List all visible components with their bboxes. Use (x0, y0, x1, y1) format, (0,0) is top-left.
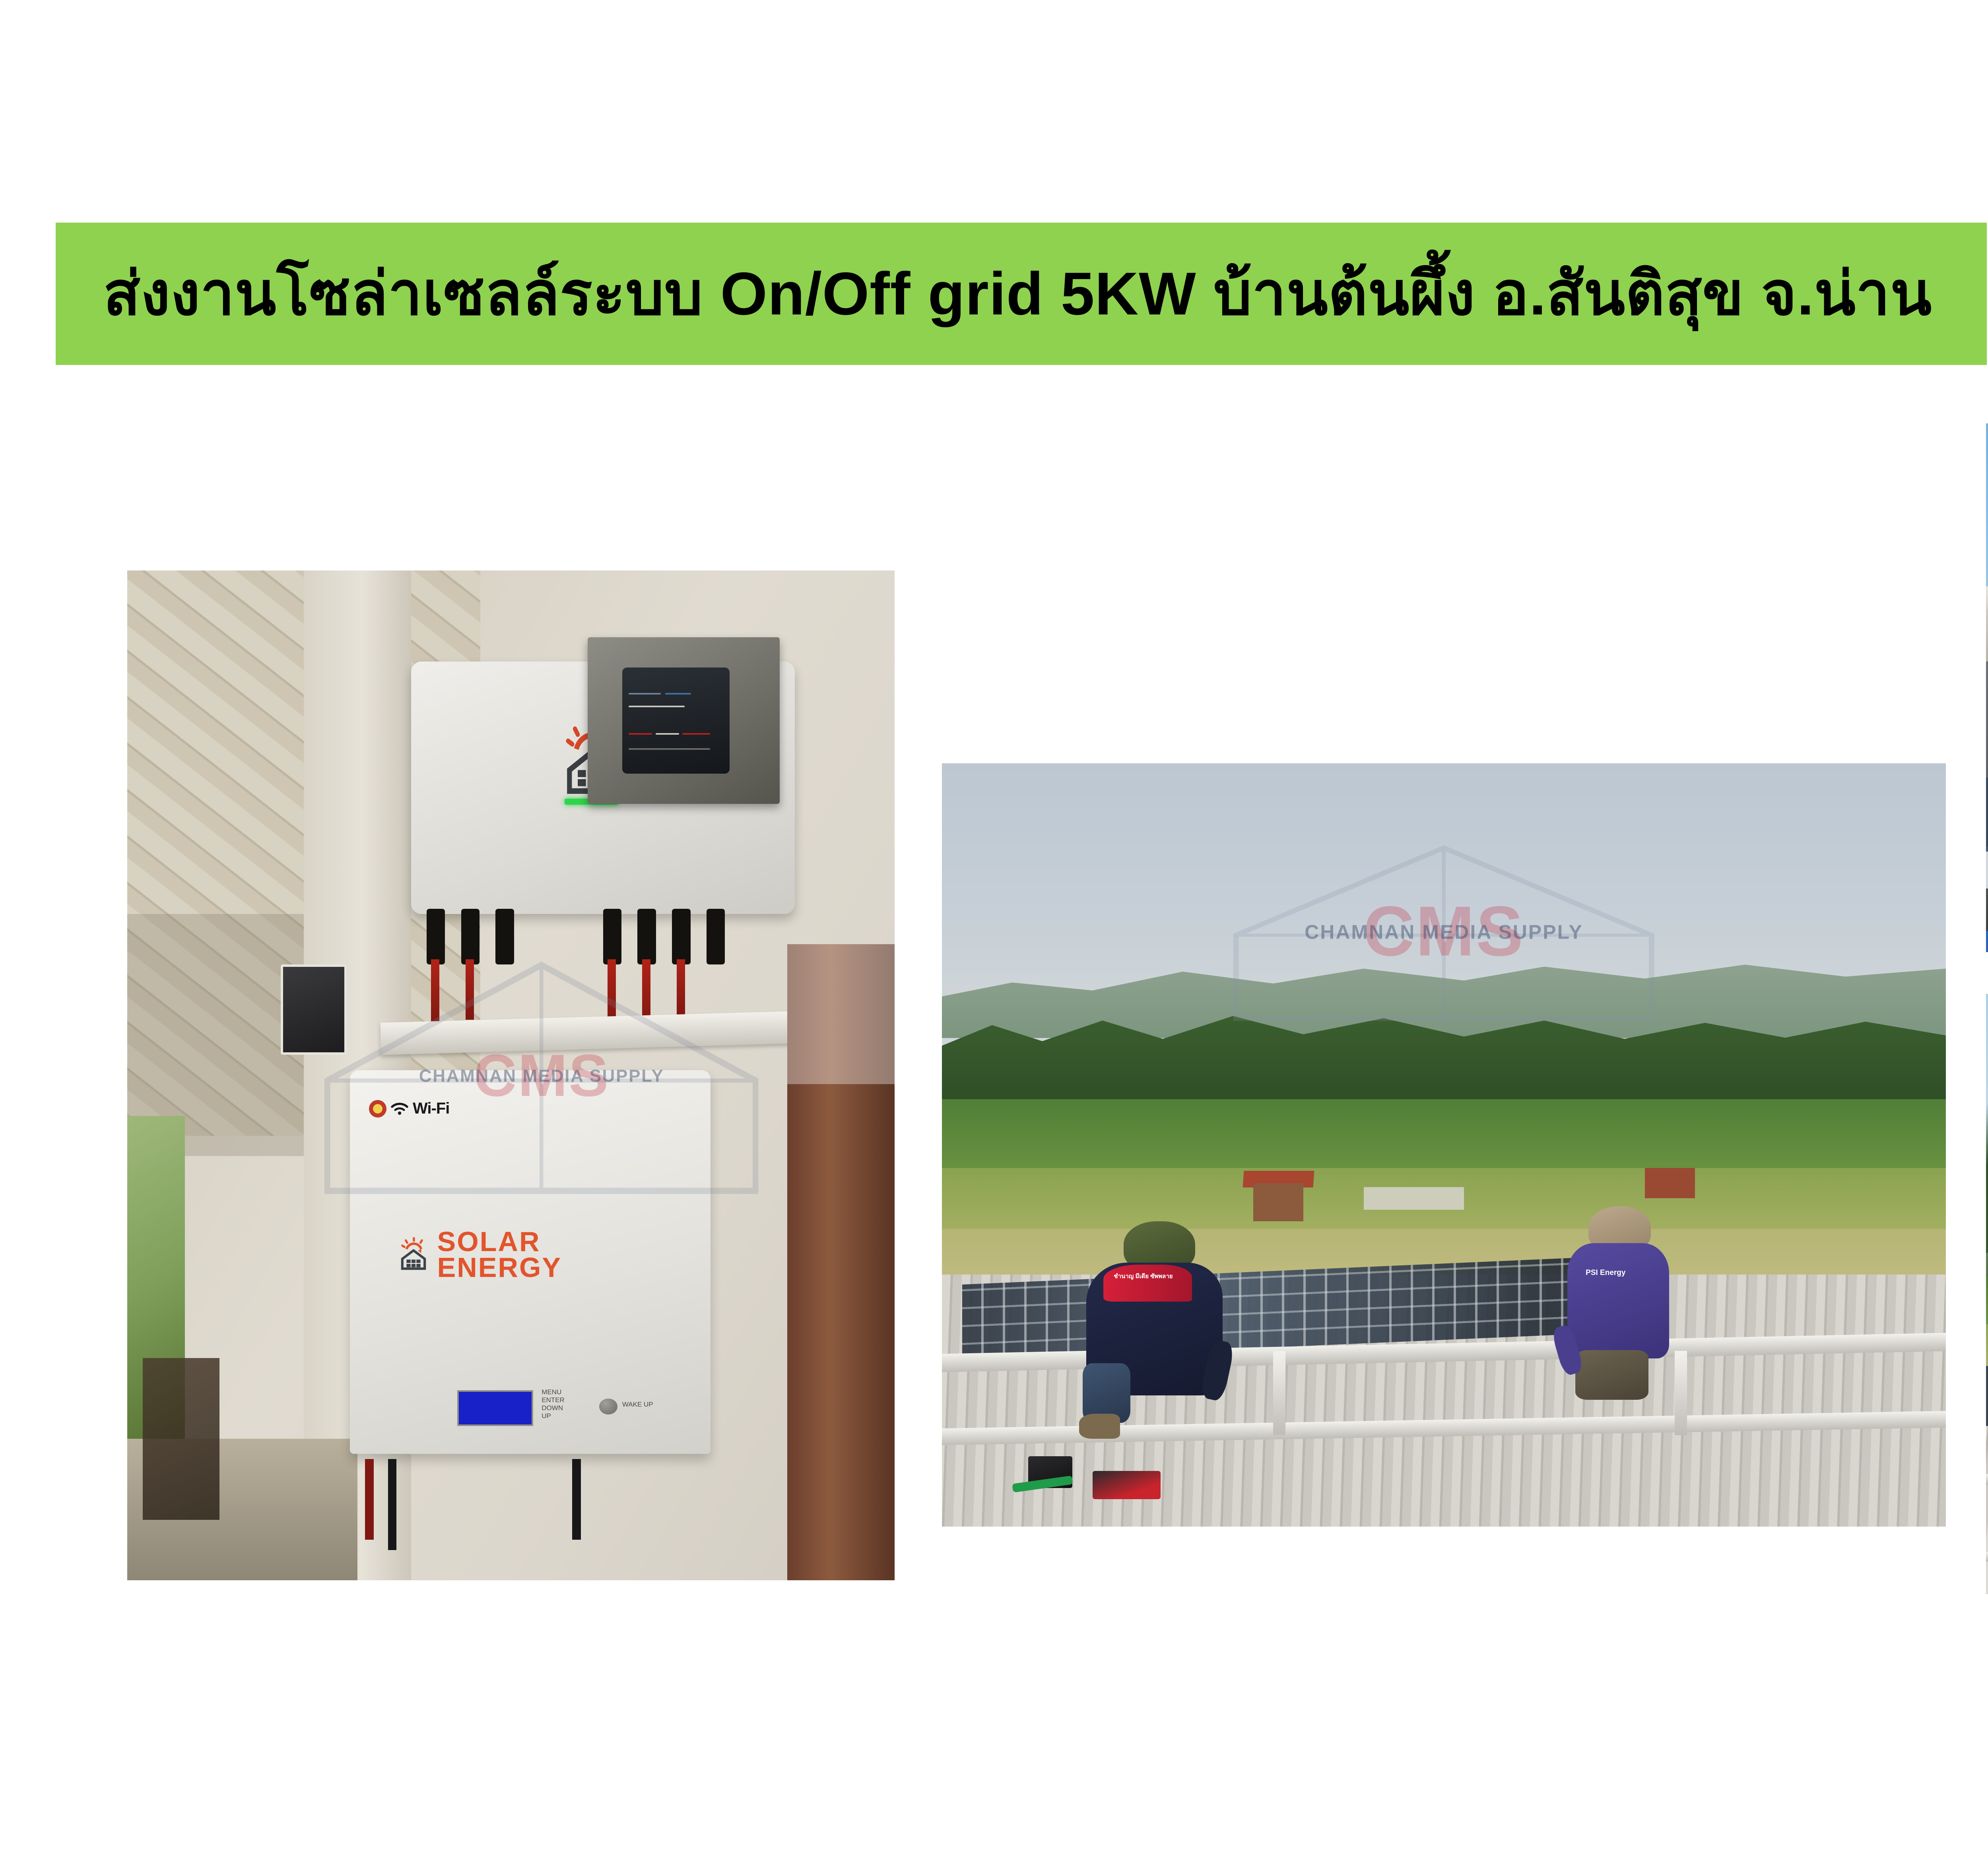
crop-field (942, 1099, 1946, 1176)
breaker (665, 693, 691, 695)
mounting-rail (1986, 1474, 1988, 1485)
breaker (629, 706, 684, 707)
field-hut (1253, 1183, 1303, 1221)
photo-panel-hoist: CMS CHAMNAN MEDIA SUPPLY (1986, 423, 1988, 952)
brand-line-2: ENERGY (437, 1255, 562, 1280)
wifi-label: Wi-Fi (413, 1100, 449, 1118)
breaker (656, 733, 679, 735)
breaker (629, 693, 661, 695)
control-buttons[interactable]: MENU ENTER DOWN UP (542, 1388, 588, 1429)
crop-field (1986, 1276, 1988, 1330)
farm-house (1645, 1168, 1695, 1199)
soffit (1986, 609, 1988, 662)
lcd-display (457, 1390, 533, 1426)
breaker (629, 748, 710, 750)
fire-seal-icon (369, 1100, 386, 1118)
blue-tarp (1986, 931, 1988, 952)
rail-post (1273, 1351, 1285, 1435)
deck-edge (1986, 889, 1988, 936)
energy-meter (281, 964, 347, 1055)
dry-field (1986, 1324, 1988, 1372)
brand-line-1: SOLAR (437, 1229, 562, 1254)
boot (1079, 1414, 1120, 1439)
wifi-icon (390, 1102, 409, 1116)
jacket-shoulder-panel: ชำนาญ มีเดีย ซัพพลาย (1103, 1265, 1192, 1301)
dc-connector (603, 909, 621, 964)
balcony-railing (1986, 825, 1988, 894)
photo-roof-panorama: ชำนาญ มีเดีย ซัพพลาย PSI Energy (942, 763, 1946, 1527)
photo-inverter-wall: Wi-Fi SOLAR ENERGY MENU ENTER DOWN UP WA… (127, 570, 895, 1580)
door (787, 944, 895, 1580)
wifi-badge: Wi-Fi (369, 1090, 461, 1127)
slide-title-bar: ส่งงานโซล่าเซลล์ระบบ On/Off grid 5KW บ้า… (56, 223, 1987, 365)
battery-cable (572, 1459, 580, 1540)
shorts (1575, 1350, 1648, 1399)
dc-connector (495, 909, 514, 964)
solar-panel-array (1986, 1366, 1988, 1426)
dc-connector (427, 909, 445, 964)
door-highlight (787, 944, 895, 1084)
tool-group (1012, 1450, 1213, 1511)
button-menu[interactable]: MENU (542, 1388, 588, 1396)
battery-cable (388, 1459, 396, 1550)
greenhouse (1364, 1187, 1464, 1210)
battery-cable (365, 1459, 373, 1540)
dc-connector (637, 909, 656, 964)
button-enter[interactable]: ENTER (542, 1396, 588, 1404)
dc-connector (461, 909, 480, 964)
breaker-window (622, 667, 730, 774)
button-up[interactable]: UP (542, 1412, 588, 1420)
dc-cable (677, 959, 685, 1020)
mounting-rail (1986, 1552, 1988, 1562)
button-down[interactable]: DOWN (542, 1404, 588, 1412)
dc-cable (431, 959, 439, 1030)
solar-energy-logo: SOLAR ENERGY (396, 1217, 565, 1293)
chair (143, 1358, 219, 1519)
jacket-print: ชำนาญ มีเดีย ซัพพลาย (1114, 1271, 1173, 1281)
dc-cable (466, 959, 474, 1020)
shirt-print: PSI Energy (1586, 1269, 1625, 1277)
dc-connector (672, 909, 690, 964)
worker-back: PSI Energy (1554, 1206, 1685, 1412)
photo-rail-installation: CMS CHAMNAN MEDIA SUPPLY (1986, 994, 1988, 1594)
page-title: ส่งงานโซล่าเซลล์ระบบ On/Off grid 5KW บ้า… (103, 264, 1932, 324)
solar-house-icon (396, 1237, 431, 1272)
cordless-drill (1093, 1471, 1161, 1499)
dc-connector (707, 909, 725, 964)
breaker (629, 733, 652, 735)
breaker (682, 733, 710, 735)
shirt: PSI Energy (1567, 1243, 1669, 1358)
wake-up-label: WAKE UP (622, 1401, 653, 1409)
worker-front: ชำนาญ มีเดีย ซัพพลาย (1072, 1221, 1243, 1450)
